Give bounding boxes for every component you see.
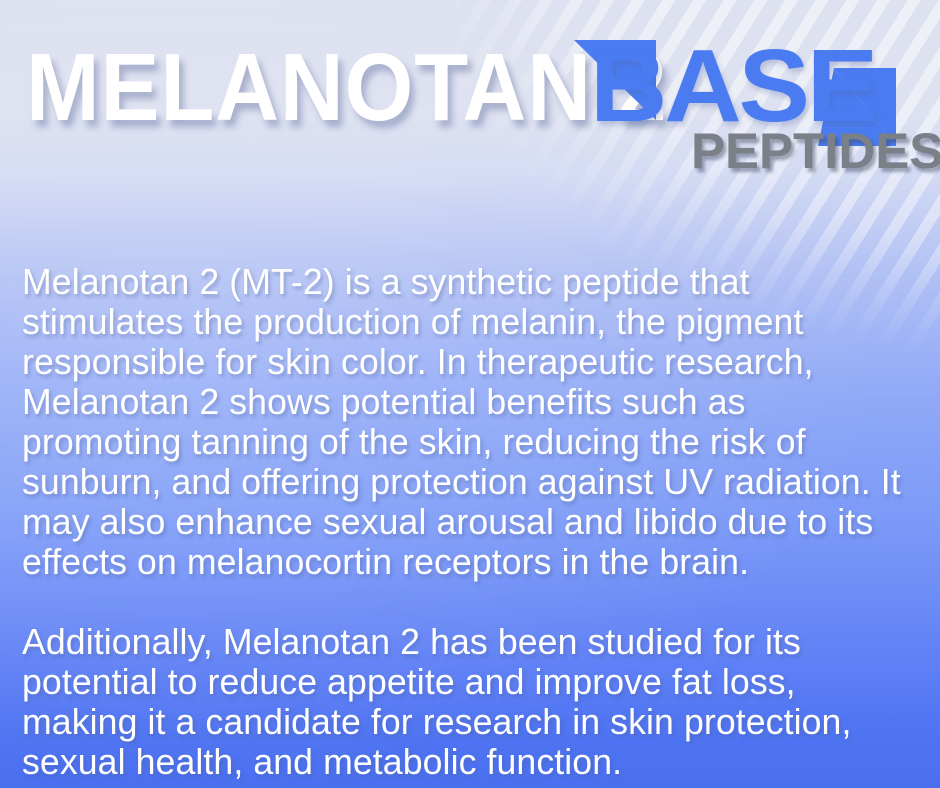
- logo-brand-secondary: PEPTIDES: [691, 126, 940, 176]
- logo-brand-primary: BASE: [590, 34, 875, 137]
- paragraph-1: Melanotan 2 (MT-2) is a synthetic peptid…: [22, 262, 903, 582]
- poster-canvas: MELANOTAN 2 BASE PEPTIDES Melanotan 2 (M…: [0, 0, 940, 788]
- body-copy: Melanotan 2 (MT-2) is a synthetic peptid…: [22, 262, 912, 782]
- paragraph-2: Additionally, Melanotan 2 has been studi…: [22, 622, 903, 782]
- brand-logo: BASE PEPTIDES: [566, 28, 926, 178]
